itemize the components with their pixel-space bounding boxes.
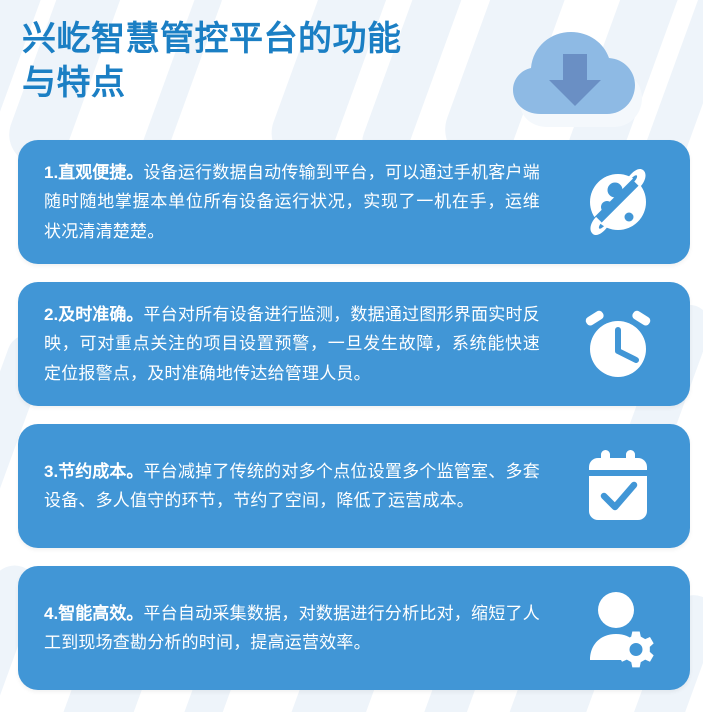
page-title: 兴屹智慧管控平台的功能 与特点 <box>22 18 472 105</box>
feature-card-list: 1.直观便捷。设备运行数据自动传输到平台，可以通过手机客户端随时随地掌握本单位所… <box>0 140 703 690</box>
page-header: 兴屹智慧管控平台的功能 与特点 <box>0 0 703 140</box>
feature-card-4-text: 4.智能高效。平台自动采集数据，对数据进行分析比对，缩短了人工到现场查勘分析的时… <box>44 599 540 657</box>
user-gear-icon <box>576 586 660 670</box>
planet-icon <box>576 160 660 244</box>
feature-card-1[interactable]: 1.直观便捷。设备运行数据自动传输到平台，可以通过手机客户端随时随地掌握本单位所… <box>18 140 690 264</box>
feature-card-4[interactable]: 4.智能高效。平台自动采集数据，对数据进行分析比对，缩短了人工到现场查勘分析的时… <box>18 566 690 690</box>
feature-card-3-text: 3.节约成本。平台减掉了传统的对多个点位设置多个监管室、多套设备、多人值守的环节… <box>44 457 540 515</box>
alarm-clock-icon <box>576 302 660 386</box>
feature-card-3[interactable]: 3.节约成本。平台减掉了传统的对多个点位设置多个监管室、多套设备、多人值守的环节… <box>18 424 690 548</box>
feature-card-1-text: 1.直观便捷。设备运行数据自动传输到平台，可以通过手机客户端随时随地掌握本单位所… <box>44 158 540 246</box>
feature-card-1-heading: 1.直观便捷。 <box>44 163 143 182</box>
feature-card-2[interactable]: 2.及时准确。平台对所有设备进行监测，数据通过图形界面实时反映，可对重点关注的项… <box>18 282 690 406</box>
cloud-download-icon <box>497 16 657 128</box>
feature-card-2-heading: 2.及时准确。 <box>44 305 143 324</box>
page-title-line-1: 兴屹智慧管控平台的功能 <box>22 18 472 62</box>
page-title-line-2: 与特点 <box>22 62 472 106</box>
feature-card-3-heading: 3.节约成本。 <box>44 462 143 481</box>
feature-card-2-text: 2.及时准确。平台对所有设备进行监测，数据通过图形界面实时反映，可对重点关注的项… <box>44 300 540 388</box>
calendar-check-icon <box>576 444 660 528</box>
feature-card-4-heading: 4.智能高效。 <box>44 604 143 623</box>
